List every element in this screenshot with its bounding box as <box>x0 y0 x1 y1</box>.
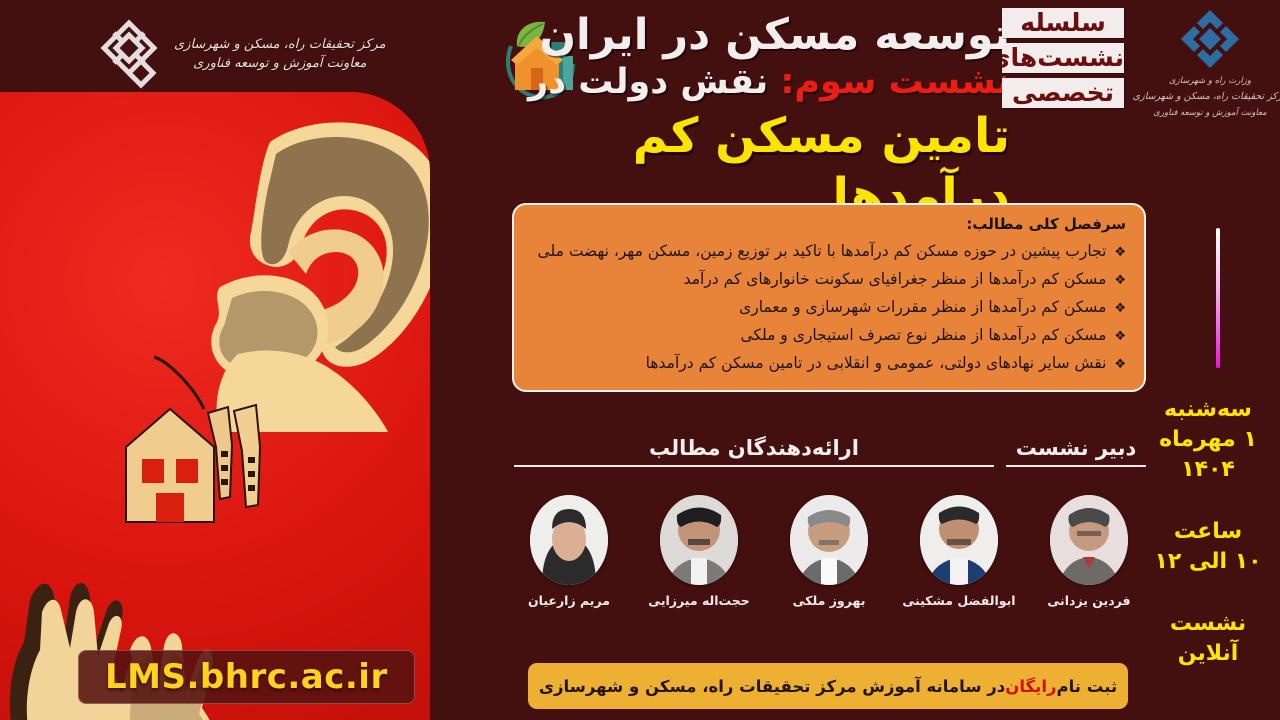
knot-emblem-icon <box>92 17 166 91</box>
topic-item: ❖ مسکن کم درآمدها از منظر نوع تصرف استیج… <box>532 322 1126 350</box>
title-block: توسعه مسکن در ایران نشست سوم: نقش دولت د… <box>470 10 1010 226</box>
title-line-2: نشست سوم: نقش دولت در <box>470 60 1010 104</box>
topics-box: سرفصل کلی مطالب: ❖ تجارب پیشین در حوزه م… <box>512 203 1146 392</box>
event-info-column: سه‌شنبه ۱ مهرماه ۱۴۰۴ ساعت ۱۰ الی ۱۲ نشس… <box>1150 395 1266 701</box>
registration-bar[interactable]: ثبت نام رایگان در سامانه آموزش مرکز تحقی… <box>528 663 1128 709</box>
speaker-name: فردین یزدانی <box>1032 593 1146 608</box>
topics-list: ❖ تجارب پیشین در حوزه مسکن کم درآمدها با… <box>532 238 1126 378</box>
speaker-name: مریم زارعیان <box>512 593 626 608</box>
speaker-item: مریم زارعیان <box>512 495 626 608</box>
avatar <box>920 495 998 585</box>
topic-item: ❖ مسکن کم درآمدها از منظر مقررات شهرسازی… <box>532 294 1126 322</box>
event-date-weekday: سه‌شنبه <box>1150 395 1266 425</box>
ministry-logo-line2: مرکز تحقیقات راه، مسکن و شهرسازی <box>1133 89 1280 106</box>
topic-item-label: مسکن کم درآمدها از منظر جغرافیای سکونت خ… <box>684 270 1107 288</box>
event-date-block: سه‌شنبه ۱ مهرماه ۱۴۰۴ <box>1150 395 1266 485</box>
topic-item: ❖ نقش سایر نهادهای دولتی، عمومی و انقلاب… <box>532 350 1126 378</box>
bhrc-logo-left: مرکز تحقیقات راه، مسکن و شهرسازی معاونت … <box>92 12 392 96</box>
event-time-block: ساعت ۱۰ الی ۱۲ <box>1150 517 1266 577</box>
poster-root: LMS.bhrc.ac.ir مرکز تحقیقات راه، مسکن و … <box>0 0 1280 720</box>
topic-item: ❖ مسکن کم درآمدها از منظر جغرافیای سکونت… <box>532 266 1126 294</box>
speaker-item: فردین یزدانی <box>1032 495 1146 608</box>
ministry-logo-line3: معاونت آموزش و توسعه فناوری <box>1133 106 1280 121</box>
title-line-1: توسعه مسکن در ایران <box>470 10 1010 60</box>
bullet-flower-icon: ❖ <box>1111 273 1126 288</box>
bullet-flower-icon: ❖ <box>1111 245 1126 260</box>
avatar <box>530 495 608 585</box>
series-stamp-line1: سلسله <box>1002 8 1124 38</box>
event-mode-block: نشست آنلاین <box>1150 609 1266 669</box>
session-number-label: نشست سوم: <box>780 62 1010 102</box>
secretary-heading: دبیر نشست <box>1006 436 1146 467</box>
bullet-flower-icon: ❖ <box>1111 301 1126 316</box>
bhrc-logo-line2: معاونت آموزش و توسعه فناوری <box>174 54 386 74</box>
event-time-value: ۱۰ الی ۱۲ <box>1150 547 1266 577</box>
speaker-item: بهروز ملکی <box>772 495 886 608</box>
ministry-logo-line1: وزارت راه و شهرسازی <box>1133 74 1280 89</box>
event-mode-line2: آنلاین <box>1150 639 1266 669</box>
ministry-logo-right: وزارت راه و شهرسازی مرکز تحقیقات راه، مس… <box>1148 4 1272 136</box>
lms-url-badge[interactable]: LMS.bhrc.ac.ir <box>78 650 415 704</box>
speaker-item: حجت‌اله میرزایی <box>642 495 756 608</box>
bullet-flower-icon: ❖ <box>1111 357 1126 372</box>
avatar <box>1050 495 1128 585</box>
series-stamp-line2: نشست‌های <box>1002 43 1124 73</box>
series-stamp: سلسله نشست‌های تخصصی <box>1002 8 1124 108</box>
speaker-name: بهروز ملکی <box>772 593 886 608</box>
bullet-flower-icon: ❖ <box>1111 329 1126 344</box>
speaker-name: حجت‌اله میرزایی <box>642 593 756 608</box>
vertical-divider <box>1216 228 1220 368</box>
series-stamp-line3: تخصصی <box>1002 78 1124 108</box>
topic-item: ❖ تجارب پیشین در حوزه مسکن کم درآمدها با… <box>532 238 1126 266</box>
event-date-year: ۱۴۰۴ <box>1150 455 1266 485</box>
topic-item-label: مسکن کم درآمدها از منظر نوع تصرف استیجار… <box>740 326 1106 344</box>
registration-free-label: رایگان <box>1005 677 1056 696</box>
speaker-name: ابوالفضل مشکینی <box>902 593 1016 608</box>
topic-item-label: نقش سایر نهادهای دولتی، عمومی و انقلابی … <box>646 354 1107 372</box>
illustration-panel: LMS.bhrc.ac.ir <box>0 92 430 720</box>
presenters-heading: ارائه‌دهندگان مطالب <box>514 436 994 467</box>
event-mode-line1: نشست <box>1150 609 1266 639</box>
topic-item-label: مسکن کم درآمدها از منظر مقررات شهرسازی و… <box>739 298 1106 316</box>
avatar <box>660 495 738 585</box>
speaker-section-headings: دبیر نشست ارائه‌دهندگان مطالب <box>512 436 1146 476</box>
registration-prefix: ثبت نام <box>1057 677 1118 696</box>
speaker-item: ابوالفضل مشکینی <box>902 495 1016 608</box>
event-date-day-month: ۱ مهرماه <box>1150 425 1266 455</box>
topics-heading: سرفصل کلی مطالب: <box>532 215 1126 233</box>
avatar <box>790 495 868 585</box>
speakers-list: فردین یزدانی ابوالفضل مشکینی <box>512 495 1146 608</box>
registration-suffix: در سامانه آموزش مرکز تحقیقات راه، مسکن و… <box>539 677 1005 696</box>
topic-item-label: تجارب پیشین در حوزه مسکن کم درآمدها با ت… <box>538 242 1107 260</box>
event-time-label: ساعت <box>1150 517 1266 547</box>
ministry-diamond-icon <box>1179 8 1241 70</box>
session-subtitle: نقش دولت در <box>528 62 780 102</box>
bhrc-logo-line1: مرکز تحقیقات راه، مسکن و شهرسازی <box>174 35 386 55</box>
